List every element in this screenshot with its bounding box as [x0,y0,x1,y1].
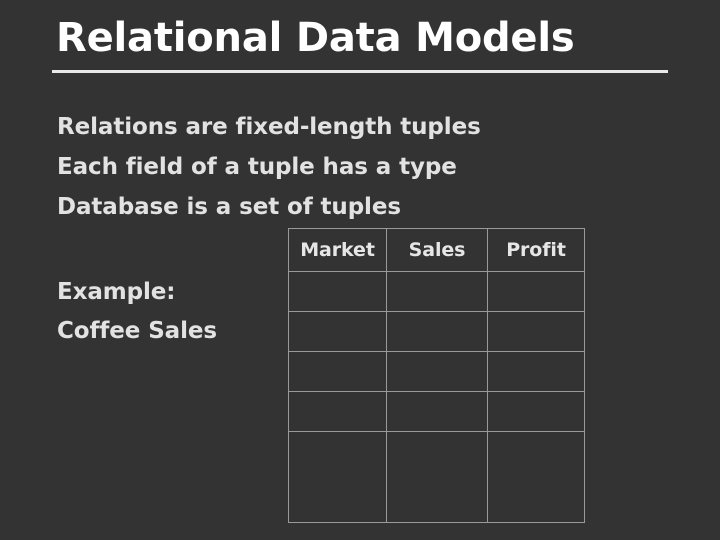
column-header-sales: Sales [387,229,488,272]
bullet-line: Relations are fixed-length tuples [57,107,527,147]
bullet-line: Database is a set of tuples [57,187,527,227]
table-cell [387,432,488,523]
table-cell [289,352,387,392]
table-cell [488,272,585,312]
table-cell [488,312,585,352]
table-cell [488,392,585,432]
example-label: Example: [57,273,267,312]
table-row [289,352,585,392]
table-row [289,272,585,312]
table-cell [387,392,488,432]
bullet-list: Relations are fixed-length tuples Each f… [57,107,527,227]
column-header-market: Market [289,229,387,272]
table-row [289,312,585,352]
table-row [289,392,585,432]
slide: Relational Data Models Relations are fix… [0,0,720,540]
table-cell [387,352,488,392]
table-cell [488,352,585,392]
title-divider [52,70,668,73]
example-caption: Example: Coffee Sales [57,273,267,351]
column-header-profit: Profit [488,229,585,272]
table-row [289,432,585,523]
table-cell [289,312,387,352]
table-cell [488,432,585,523]
table-cell [289,272,387,312]
table-cell [289,432,387,523]
bullet-line: Each field of a tuple has a type [57,147,527,187]
page-title: Relational Data Models [56,14,574,62]
table-cell [387,272,488,312]
table-cell [289,392,387,432]
relation-table: Market Sales Profit [288,228,585,523]
table-header-row: Market Sales Profit [289,229,585,272]
example-subject: Coffee Sales [57,312,267,351]
table-cell [387,312,488,352]
